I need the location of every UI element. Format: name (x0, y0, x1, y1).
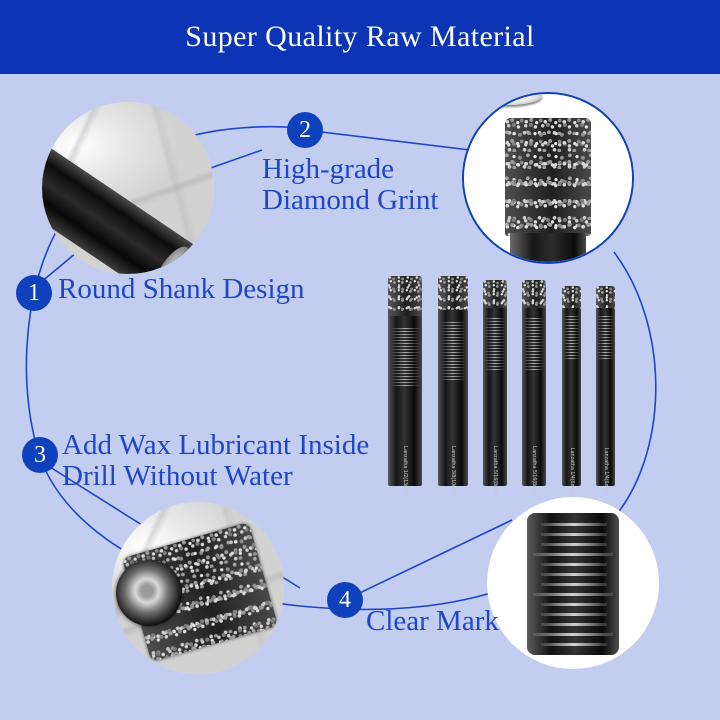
feature-badge-1: 1 (16, 275, 52, 311)
drill-bit: Lanzatha 5/16(8mm) (483, 280, 507, 486)
drill-bit-tip (483, 280, 507, 310)
drill-bit-flutes (392, 328, 418, 388)
drill-bit-label: Lanzatha 5/16(8mm) (492, 446, 498, 496)
drill-bit-label: Lanzatha 3/8(10mm) (450, 446, 456, 496)
drill-bit-flutes (442, 322, 465, 382)
drill-bit-tip (562, 286, 581, 310)
marked-shank-shape (527, 513, 619, 655)
page-title: Super Quality Raw Material (185, 20, 534, 54)
drill-bit-tip (388, 276, 422, 318)
drill-bit-label: Lanzatha 1/4(6mm) (603, 448, 609, 495)
grit-crown-shape (505, 118, 591, 236)
drill-bit-label: Lanzatha 5/16(8mm) (531, 446, 537, 496)
feature-label-2: High-grade Diamond Grint (262, 154, 438, 215)
diamond-grit-crown-closeup-photo (462, 92, 634, 264)
drill-bit-row: Lanzatha 1/2(13mm) Lanzatha 3/8(10mm) La… (380, 258, 630, 486)
round-shank-closeup-photo (42, 102, 214, 274)
drill-bit: Lanzatha 3/8(10mm) (438, 276, 468, 486)
feature-badge-4: 4 (327, 582, 363, 618)
drill-bit-flutes (564, 316, 578, 361)
feature-label-3: Add Wax Lubricant Inside Drill Without W… (62, 430, 369, 491)
drill-bit: Lanzatha 1/4(6mm) (562, 286, 581, 486)
drill-bit: Lanzatha 5/16(8mm) (522, 280, 546, 486)
infographic-page: Super Quality Raw Material (0, 0, 720, 720)
feature-badge-2: 2 (287, 112, 323, 148)
drill-bit: Lanzatha 1/2(13mm) (388, 276, 422, 486)
wax-core-closeup-photo (112, 502, 284, 674)
drill-bit-tip (596, 286, 615, 310)
feature-badge-3: 3 (22, 437, 58, 473)
header-banner: Super Quality Raw Material (0, 0, 720, 74)
drill-bit: Lanzatha 1/4(6mm) (596, 286, 615, 486)
feature-label-1: Round Shank Design (58, 274, 305, 305)
drill-bit-flutes (598, 316, 612, 361)
drill-bit-label: Lanzatha 1/2(13mm) (402, 446, 408, 496)
drill-bit-label: Lanzatha 1/4(6mm) (569, 448, 575, 495)
depth-mark-shank-closeup-photo (487, 497, 659, 669)
drill-bit-tip (438, 276, 468, 312)
drill-bit-flutes (486, 318, 504, 372)
drill-bit-tip (522, 280, 546, 310)
grit-texture (505, 118, 591, 236)
drill-bit-flutes (525, 318, 543, 372)
feature-label-4: Clear Mark (366, 606, 499, 637)
